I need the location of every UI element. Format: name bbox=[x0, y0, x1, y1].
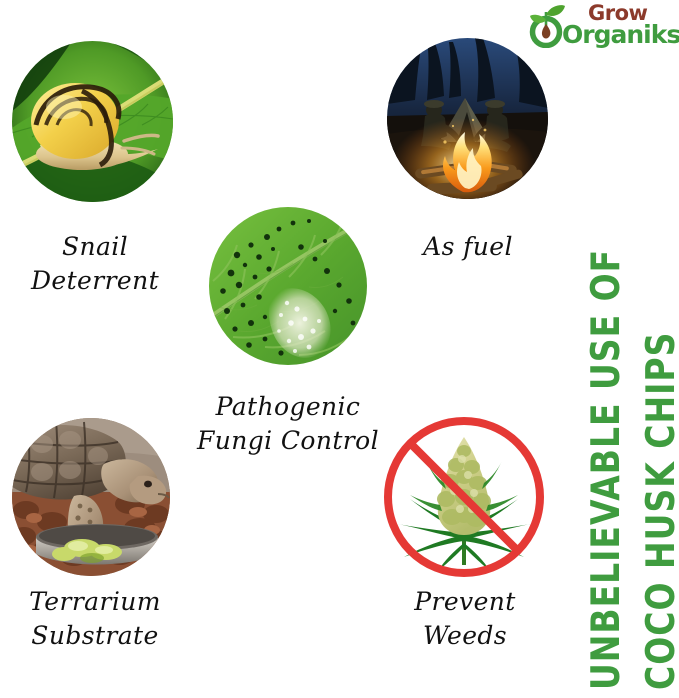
image-terrarium-substrate bbox=[12, 418, 170, 576]
brand-word-organiks: Organiks bbox=[562, 22, 679, 47]
side-banner-line-1: UNBELIEVABLE USE OF bbox=[586, 249, 625, 690]
caption-terrarium-substrate: Terrarium Substrate bbox=[0, 585, 190, 653]
caption-snail-deterrent: Snail Deterrent bbox=[0, 230, 190, 298]
brand-logo: Grow Organiks bbox=[524, 2, 676, 48]
image-pathogenic-fungi-control bbox=[209, 207, 367, 365]
image-prevent-weeds bbox=[378, 415, 550, 580]
brand-wordmark: Grow Organiks bbox=[562, 2, 678, 48]
caption-prevent-weeds: Prevent Weeds bbox=[372, 585, 558, 653]
caption-pathogenic-fungi-control: Pathogenic Fungi Control bbox=[178, 390, 398, 458]
image-snail-deterrent bbox=[12, 41, 173, 202]
infographic-page: Grow Organiks bbox=[0, 0, 679, 698]
image-as-fuel bbox=[387, 38, 548, 199]
caption-as-fuel: As fuel bbox=[378, 230, 558, 264]
side-banner-line-2: COCO HUSK CHIPS bbox=[641, 332, 679, 690]
